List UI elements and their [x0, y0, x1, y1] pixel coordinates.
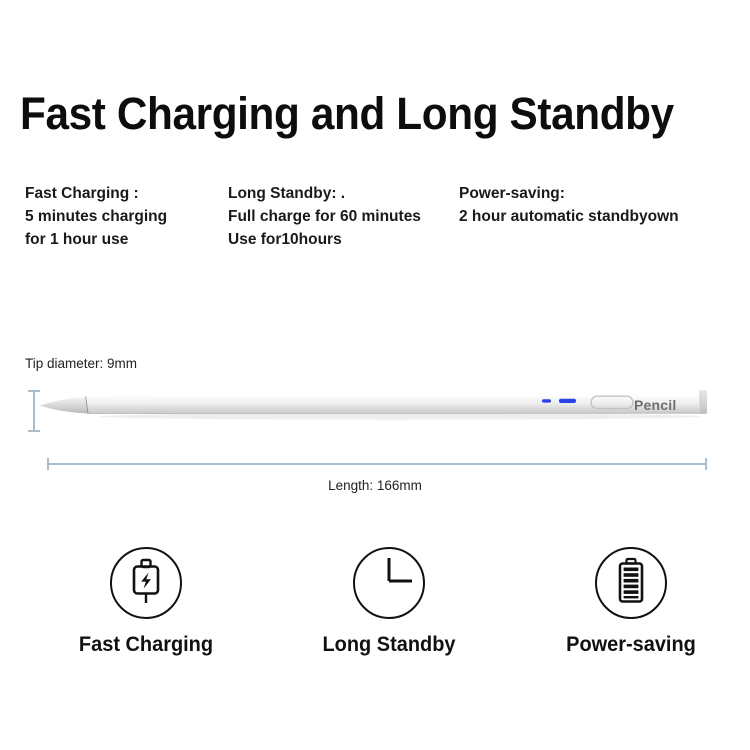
pencil-tip — [40, 397, 90, 414]
pencil-brand-label: Pencil — [634, 397, 676, 413]
icon-caption: Fast Charging — [51, 633, 241, 657]
feature-line-2: 5 minutes charging — [25, 205, 167, 228]
feature-icon-row: Fast Charging Long Standby — [0, 540, 750, 660]
icon-circle — [110, 547, 182, 619]
feature-column-fast-charging: Fast Charging : 5 minutes charging for 1… — [25, 182, 167, 251]
feature-heading: Fast Charging : — [25, 182, 167, 205]
feature-icon-item-long-standby: Long Standby — [289, 540, 489, 657]
icon-caption: Power-saving — [536, 633, 726, 657]
battery-icon — [614, 557, 648, 610]
feature-icon-item-fast-charging: Fast Charging — [46, 540, 246, 657]
feature-line-2: 2 hour automatic standbyown — [459, 205, 679, 228]
icon-circle — [353, 547, 425, 619]
pencil-diagram: Tip diameter: 9mm — [0, 340, 750, 500]
icon-circle — [595, 547, 667, 619]
dimension-line-horizontal — [47, 463, 707, 465]
feature-column-power-saving: Power-saving: 2 hour automatic standbyow… — [459, 182, 679, 228]
led-indicator-small — [542, 399, 551, 402]
feature-icon-item-power-saving: Power-saving — [531, 540, 731, 657]
feature-line-3: for 1 hour use — [25, 228, 167, 251]
clock-icon — [366, 558, 412, 609]
length-label: Length: 166mm — [0, 478, 750, 493]
page-title: Fast Charging and Long Standby — [20, 88, 693, 140]
feature-columns: Fast Charging : 5 minutes charging for 1… — [0, 182, 750, 262]
feature-line-3: Use for10hours — [228, 228, 421, 251]
length-dimension-bar — [47, 458, 707, 470]
feature-line-2: Full charge for 60 minutes — [228, 205, 421, 228]
icon-caption: Long Standby — [294, 633, 484, 657]
pencil-tail-end — [700, 390, 707, 414]
feature-column-long-standby: Long Standby: . Full charge for 60 minut… — [228, 182, 421, 251]
led-indicator-large — [559, 399, 576, 403]
feature-heading: Long Standby: . — [228, 182, 421, 205]
charging-plug-icon — [125, 557, 167, 610]
dimension-cap-right — [705, 458, 707, 470]
feature-heading: Power-saving: — [459, 182, 679, 205]
